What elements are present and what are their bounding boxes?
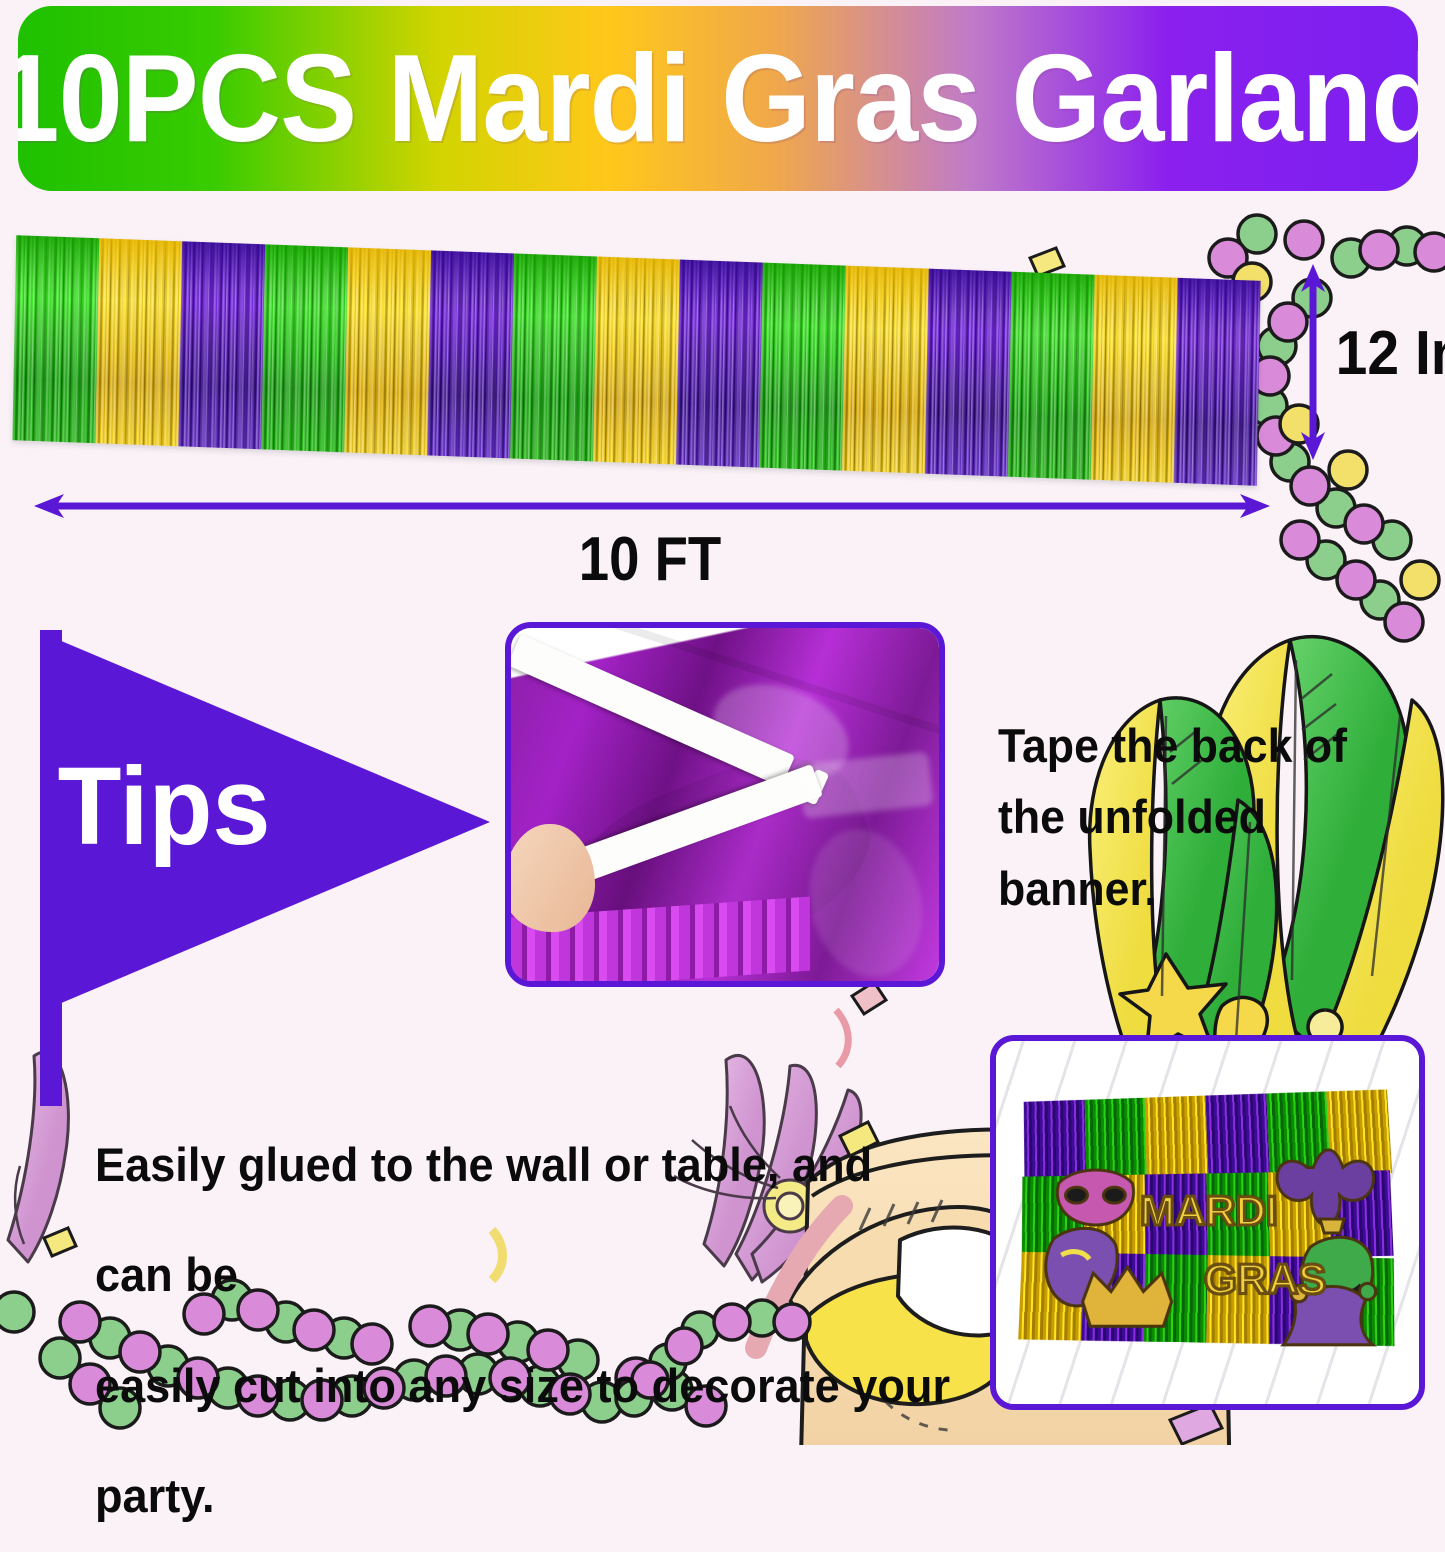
stripe-purple <box>178 241 265 449</box>
width-label: 10 FT <box>78 524 1222 595</box>
cutout-word-mardi: MARDI <box>1140 1187 1278 1234</box>
crown-icon <box>1082 1267 1172 1326</box>
product-garland-image <box>14 258 1259 463</box>
stripe-purple <box>427 250 514 458</box>
stripe-green <box>261 244 348 452</box>
decorated-garland: MARDI GRAS <box>1018 1090 1395 1357</box>
stripe-green <box>510 253 597 461</box>
stripe-purple <box>925 269 1012 477</box>
height-dimension-arrow <box>1300 262 1326 462</box>
fleur-de-lis-icon <box>1277 1150 1375 1225</box>
header-banner: 10PCS Mardi Gras Garland <box>18 6 1418 191</box>
stripe-purple <box>1174 278 1261 486</box>
stripe-gold <box>95 238 182 446</box>
height-label: 12 In <box>1336 318 1445 389</box>
tape-instruction-text: Tape the back of the unfolded banner. <box>998 710 1378 924</box>
hung-garland-photo: MARDI GRAS <box>990 1035 1425 1410</box>
garland-stripes <box>12 235 1260 486</box>
bottom-instruction-text: Easily glued to the wall or table, and c… <box>95 1110 959 1552</box>
hand-thumb <box>505 824 595 932</box>
page-title: 10PCS Mardi Gras Garland <box>18 37 1418 161</box>
stripe-gold <box>842 266 929 474</box>
stripe-gold <box>344 247 431 455</box>
infographic-canvas: 10PCS Mardi Gras Garland <box>0 0 1445 1445</box>
cutout-word-gras: GRAS <box>1204 1255 1327 1303</box>
stripe-green <box>1008 272 1095 480</box>
stripe-green <box>759 263 846 471</box>
tape-peel-photo <box>505 622 945 987</box>
stripe-gold <box>593 256 680 464</box>
bottom-instruction-line-2: easily cut into any size to decorate you… <box>95 1331 959 1552</box>
garland-cutout-icons: MARDI GRAS <box>1018 1090 1395 1357</box>
width-dimension-arrow <box>32 492 1272 520</box>
tips-label: Tips <box>58 752 271 862</box>
stripe-gold <box>1091 275 1178 483</box>
stripe-green <box>12 235 99 443</box>
stripe-purple <box>676 260 763 468</box>
bottom-instruction-line-1: Easily glued to the wall or table, and c… <box>95 1110 959 1331</box>
